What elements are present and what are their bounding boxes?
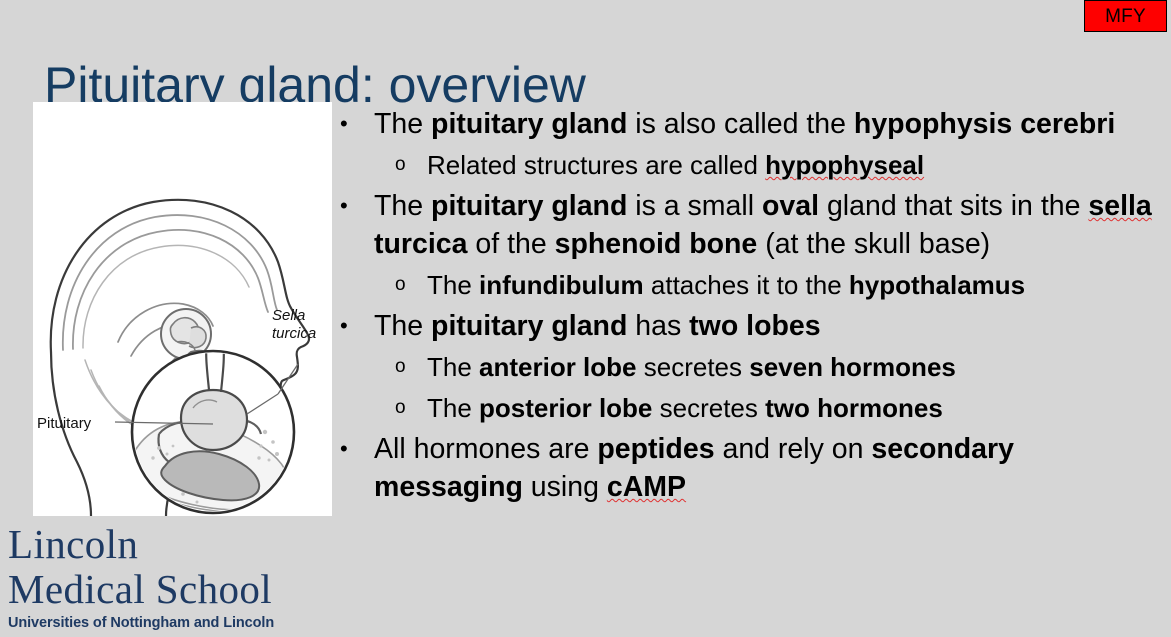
- mfy-badge: MFY: [1084, 0, 1167, 32]
- text-run: attaches it to the: [644, 270, 849, 300]
- bullet-item-level2: oThe anterior lobe secretes seven hormon…: [340, 348, 1160, 386]
- bullet-text: The anterior lobe secretes seven hormone…: [427, 348, 1160, 386]
- bullet-circle-marker: o: [395, 348, 427, 386]
- text-run: pituitary gland: [431, 108, 627, 140]
- bullet-item-level2: oRelated structures are called hypophyse…: [340, 146, 1160, 184]
- text-run: pituitary gland: [431, 190, 627, 222]
- logo-line-2: Medical School: [8, 567, 328, 612]
- sella-turcica-label-line2: turcica: [272, 325, 316, 342]
- text-run: is a small: [627, 190, 762, 222]
- bullet-item-level1: •The pituitary gland is also called the …: [340, 105, 1160, 143]
- text-run: has: [627, 310, 689, 342]
- bullet-dot-marker: •: [340, 105, 374, 143]
- bullet-item-level1: •The pituitary gland has two lobes: [340, 307, 1160, 345]
- text-run: secretes: [652, 393, 765, 423]
- slide-body-bullets: •The pituitary gland is also called the …: [340, 105, 1160, 509]
- mfy-badge-label: MFY: [1105, 7, 1146, 26]
- magnified-inset: [129, 322, 295, 513]
- bullet-item-level2: oThe posterior lobe secretes two hormone…: [340, 389, 1160, 427]
- text-run: The: [374, 310, 431, 342]
- pituitary-anatomy-svg: Sella turcica Pituitary: [33, 102, 332, 516]
- pituitary-anatomy-figure: Sella turcica Pituitary: [33, 102, 332, 516]
- bullet-dot-marker: •: [340, 430, 374, 468]
- bullet-text: All hormones are peptides and rely on se…: [374, 430, 1160, 506]
- text-run: The: [374, 108, 431, 140]
- text-run: peptides: [597, 433, 714, 465]
- bullet-text: The posterior lobe secretes two hormones: [427, 389, 1160, 427]
- bullet-text: The pituitary gland has two lobes: [374, 307, 1160, 345]
- text-run: secretes: [637, 352, 750, 382]
- text-run: gland that sits in the: [819, 190, 1088, 222]
- text-run: The: [427, 352, 479, 382]
- text-run: two hormones: [765, 393, 943, 423]
- text-run: and rely on: [715, 433, 872, 465]
- bullet-item-level1: •All hormones are peptides and rely on s…: [340, 430, 1160, 506]
- text-run: sella: [1088, 190, 1151, 222]
- sella-turcica-label-line1: Sella: [272, 307, 305, 324]
- text-run: sphenoid bone: [555, 228, 758, 260]
- text-run: using: [523, 471, 607, 503]
- bullet-dot-marker: •: [340, 187, 374, 225]
- bullet-text: The pituitary gland is a small oval glan…: [374, 187, 1160, 263]
- bullet-text: Related structures are called hypophysea…: [427, 146, 1160, 184]
- text-run: infundibulum: [479, 270, 644, 300]
- text-run: The: [374, 190, 431, 222]
- text-run: is also called the: [627, 108, 854, 140]
- bullet-item-level2: oThe infundibulum attaches it to the hyp…: [340, 266, 1160, 304]
- pituitary-label: Pituitary: [37, 415, 92, 432]
- logo-subtitle: Universities of Nottingham and Lincoln: [8, 614, 328, 632]
- lincoln-medical-school-logo: Lincoln Medical School Universities of N…: [8, 522, 328, 632]
- bullet-circle-marker: o: [395, 146, 427, 184]
- text-run: hypothalamus: [849, 270, 1025, 300]
- text-run: turcica: [374, 228, 467, 260]
- text-run: The: [427, 270, 479, 300]
- text-run: Related structures are called: [427, 150, 765, 180]
- text-run: pituitary gland: [431, 310, 627, 342]
- presentation-slide: MFY Pituitary gland: overview: [0, 0, 1171, 637]
- text-run: anterior lobe: [479, 352, 636, 382]
- text-run: seven hormones: [749, 352, 956, 382]
- bullet-text: The infundibulum attaches it to the hypo…: [427, 266, 1160, 304]
- bullet-text: The pituitary gland is also called the h…: [374, 105, 1160, 143]
- text-run: posterior lobe: [479, 393, 652, 423]
- logo-line-1: Lincoln: [8, 522, 328, 567]
- text-run: oval: [762, 190, 819, 222]
- text-run: of the: [467, 228, 554, 260]
- text-run: hypophyseal: [765, 150, 924, 180]
- bullet-circle-marker: o: [395, 389, 427, 427]
- text-run: cAMP: [607, 471, 686, 503]
- text-run: (at the skull base): [757, 228, 990, 260]
- bullet-item-level1: • The pituitary gland is a small oval gl…: [340, 187, 1160, 263]
- text-run: hypophysis cerebri: [854, 108, 1115, 140]
- bullet-circle-marker: o: [395, 266, 427, 304]
- text-run: two lobes: [689, 310, 820, 342]
- bullet-dot-marker: •: [340, 307, 374, 345]
- text-run: All hormones are: [374, 433, 597, 465]
- text-run: The: [427, 393, 479, 423]
